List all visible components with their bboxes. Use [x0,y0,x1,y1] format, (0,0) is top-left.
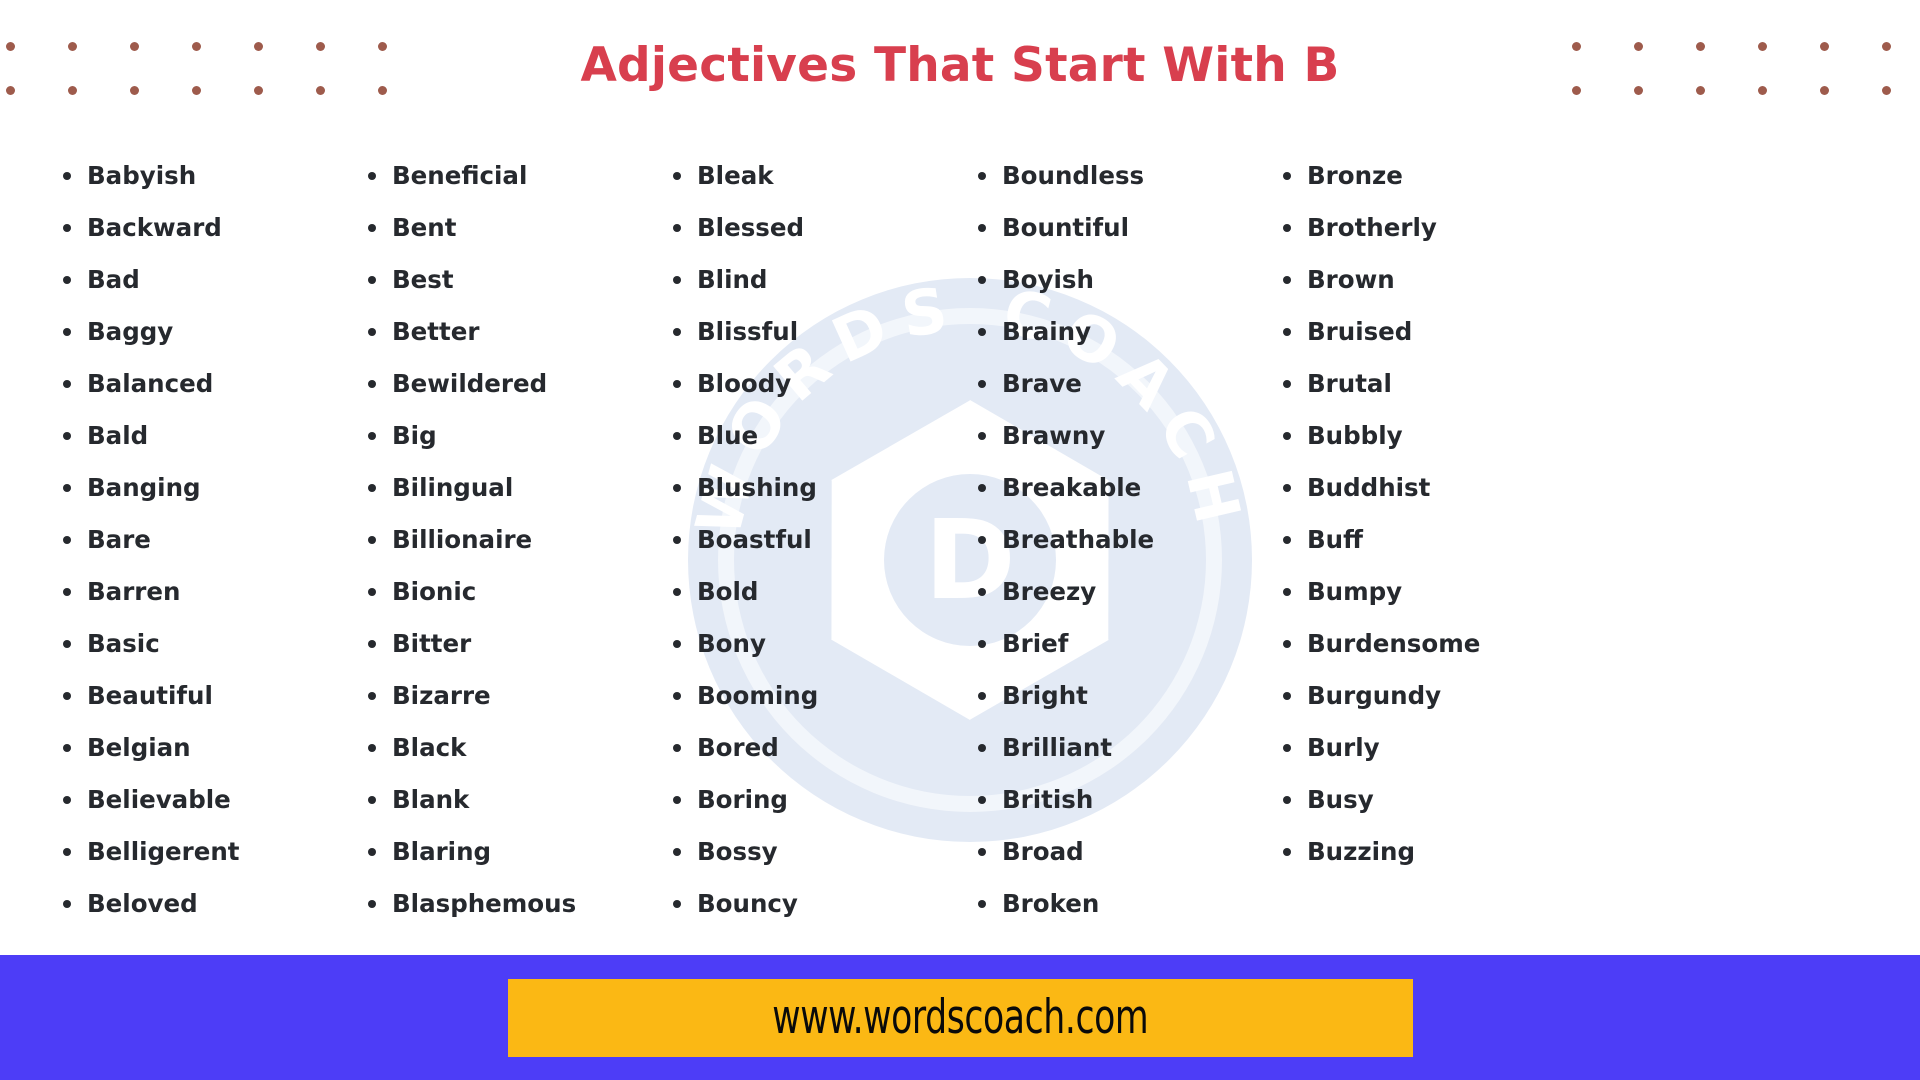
word-column-1: BabyishBackwardBadBaggyBalancedBaldBangi… [56,150,361,950]
decor-dot [1634,42,1643,51]
word-list-item: Bizarre [361,670,666,722]
word-column-2: BeneficialBentBestBetterBewilderedBigBil… [361,150,666,950]
word-list-item: Bony [666,618,971,670]
decor-dot [1820,86,1829,95]
word-list-item: Buddhist [1276,462,1581,514]
word-list-item: Bitter [361,618,666,670]
word-list-item: Brave [971,358,1276,410]
word-list-item: Balanced [56,358,361,410]
word-list-item: Black [361,722,666,774]
word-list-item: British [971,774,1276,826]
decor-dot [1696,86,1705,95]
word-list-item: Blushing [666,462,971,514]
adjectives-columns: BabyishBackwardBadBaggyBalancedBaldBangi… [0,150,1920,950]
word-list-item: Brawny [971,410,1276,462]
word-list-4: BoundlessBountifulBoyishBrainyBraveBrawn… [971,150,1276,930]
word-list-item: Bossy [666,826,971,878]
word-list-item: Bionic [361,566,666,618]
word-list-item: Burgundy [1276,670,1581,722]
word-list-item: Brown [1276,254,1581,306]
word-list-item: Blue [666,410,971,462]
word-list-item: Boastful [666,514,971,566]
word-list-item: Babyish [56,150,361,202]
word-list-item: Burdensome [1276,618,1581,670]
word-list-item: Bouncy [666,878,971,930]
word-list-item: Breathable [971,514,1276,566]
word-list-item: Beloved [56,878,361,930]
word-list-item: Bewildered [361,358,666,410]
decorative-dot-grid-right [1560,0,1920,130]
word-list-item: Better [361,306,666,358]
decor-dot [1882,86,1891,95]
website-badge[interactable]: www.wordscoach.com [508,979,1413,1057]
word-list-item: Blessed [666,202,971,254]
word-list-item: Brutal [1276,358,1581,410]
word-list-item: Brotherly [1276,202,1581,254]
word-list-item: Buzzing [1276,826,1581,878]
word-list-item: Bubbly [1276,410,1581,462]
word-list-item: Blasphemous [361,878,666,930]
decor-dot [1758,42,1767,51]
word-list-item: Brief [971,618,1276,670]
word-list-item: Beneficial [361,150,666,202]
decor-dot [1696,42,1705,51]
word-list-item: Bold [666,566,971,618]
footer-bar: www.wordscoach.com [0,955,1920,1080]
word-list-item: Belgian [56,722,361,774]
word-list-item: Booming [666,670,971,722]
word-list-item: Belligerent [56,826,361,878]
word-list-item: Buff [1276,514,1581,566]
word-list-item: Beautiful [56,670,361,722]
word-list-5: BronzeBrotherlyBrownBruisedBrutalBubblyB… [1276,150,1581,878]
word-list-item: Bloody [666,358,971,410]
word-list-item: Broad [971,826,1276,878]
poster-canvas: Adjectives That Start With B WORDS COACH [0,0,1920,1080]
word-list-1: BabyishBackwardBadBaggyBalancedBaldBangi… [56,150,361,930]
word-list-item: Bruised [1276,306,1581,358]
word-list-item: Bumpy [1276,566,1581,618]
decor-dot [1820,42,1829,51]
decor-dot [1758,86,1767,95]
word-list-item: Big [361,410,666,462]
word-list-item: Bronze [1276,150,1581,202]
word-list-item: Brainy [971,306,1276,358]
word-list-item: Believable [56,774,361,826]
word-list-item: Barren [56,566,361,618]
word-list-item: Boyish [971,254,1276,306]
word-column-3: BleakBlessedBlindBlissfulBloodyBlueBlush… [666,150,971,950]
word-list-item: Breezy [971,566,1276,618]
word-column-4: BoundlessBountifulBoyishBrainyBraveBrawn… [971,150,1276,950]
word-list-item: Bad [56,254,361,306]
word-list-item: Boundless [971,150,1276,202]
word-list-item: Backward [56,202,361,254]
word-list-item: Billionaire [361,514,666,566]
page-title: Adjectives That Start With B [580,38,1339,93]
word-list-item: Blissful [666,306,971,358]
word-list-item: Busy [1276,774,1581,826]
word-list-item: Breakable [971,462,1276,514]
word-list-item: Blaring [361,826,666,878]
decor-dot [1634,86,1643,95]
word-list-item: Bare [56,514,361,566]
decor-dot [1572,42,1581,51]
word-list-item: Bleak [666,150,971,202]
word-list-item: Best [361,254,666,306]
word-list-item: Brilliant [971,722,1276,774]
word-list-2: BeneficialBentBestBetterBewilderedBigBil… [361,150,666,930]
word-list-item: Bald [56,410,361,462]
word-list-item: Bent [361,202,666,254]
word-list-item: Broken [971,878,1276,930]
website-url: www.wordscoach.com [772,990,1148,1045]
word-list-item: Bored [666,722,971,774]
word-list-3: BleakBlessedBlindBlissfulBloodyBlueBlush… [666,150,971,930]
word-list-item: Blind [666,254,971,306]
word-list-item: Bountiful [971,202,1276,254]
word-list-item: Basic [56,618,361,670]
decor-dot [1572,86,1581,95]
word-list-item: Blank [361,774,666,826]
word-list-item: Banging [56,462,361,514]
word-list-item: Bright [971,670,1276,722]
word-column-5: BronzeBrotherlyBrownBruisedBrutalBubblyB… [1276,150,1581,950]
word-list-item: Baggy [56,306,361,358]
word-list-item: Boring [666,774,971,826]
decor-dot [1882,42,1891,51]
word-list-item: Burly [1276,722,1581,774]
word-list-item: Bilingual [361,462,666,514]
